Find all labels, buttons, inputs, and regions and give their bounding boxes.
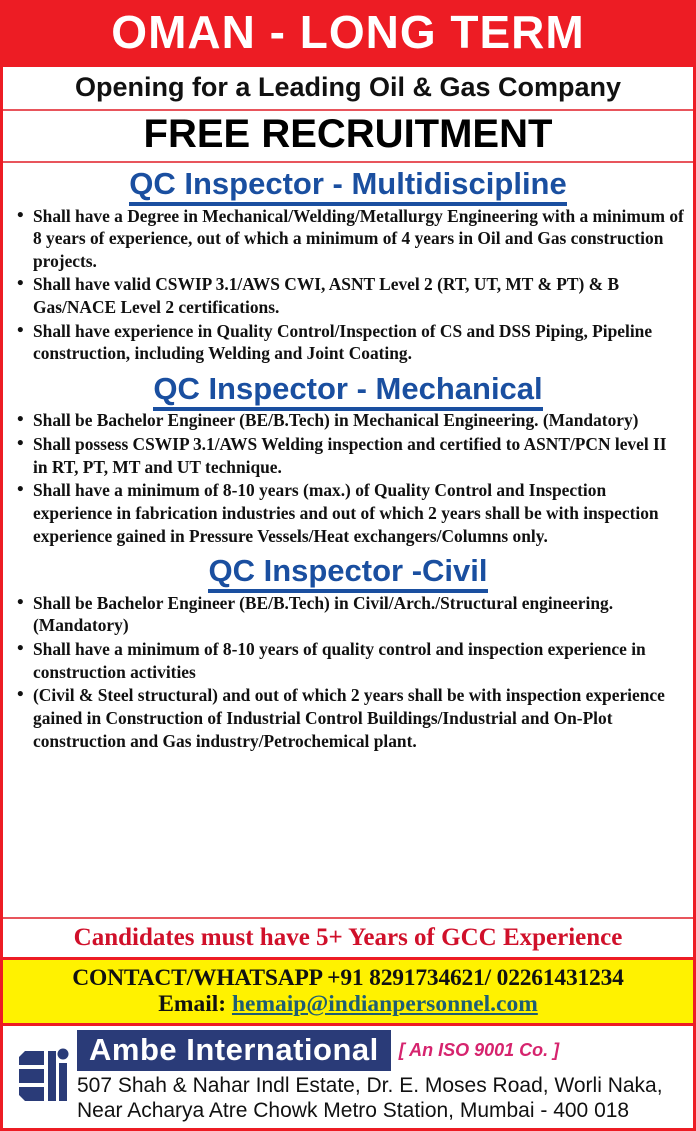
recruitment-flyer: OMAN - LONG TERM Opening for a Leading O… [0,0,696,1131]
company-footer: Ambe International [ An ISO 9001 Co. ] 5… [3,1026,693,1128]
requirements-list-multidiscipline: Shall have a Degree in Mechanical/Weldin… [11,205,685,366]
contact-banner: CONTACT/WHATSAPP +91 8291734621/ 0226143… [3,960,693,1024]
company-name: Ambe International [77,1030,391,1071]
job-listings: QC Inspector - Multidiscipline Shall hav… [3,163,693,917]
list-item: (Civil & Steel structural) and out of wh… [11,684,685,752]
job-title-text: QC Inspector - Mechanical [153,371,542,411]
requirements-list-civil: Shall be Bachelor Engineer (BE/B.Tech) i… [11,592,685,753]
list-item: Shall have a minimum of 8-10 years of qu… [11,638,685,683]
requirements-list-mechanical: Shall be Bachelor Engineer (BE/B.Tech) i… [11,409,685,548]
email-label: Email: [158,991,226,1017]
address-line-1: 507 Shah & Nahar Indl Estate, Dr. E. Mos… [77,1074,687,1099]
list-item: Shall have valid CSWIP 3.1/AWS CWI, ASNT… [11,273,685,318]
list-item: Shall have a minimum of 8-10 years (max.… [11,479,685,547]
email-link[interactable]: hemaip@indianpersonnel.com [232,991,538,1017]
list-item: Shall have experience in Quality Control… [11,320,685,365]
list-item: Shall be Bachelor Engineer (BE/B.Tech) i… [11,592,685,637]
gcc-experience-note: Candidates must have 5+ Years of GCC Exp… [3,919,693,957]
job-title-text: QC Inspector -Civil [208,553,487,593]
job-title-multidiscipline: QC Inspector - Multidiscipline [11,168,685,201]
footer-text-block: Ambe International [ An ISO 9001 Co. ] 5… [77,1030,687,1124]
list-item: Shall be Bachelor Engineer (BE/B.Tech) i… [11,409,685,432]
contact-phone-line[interactable]: CONTACT/WHATSAPP +91 8291734621/ 0226143… [3,965,693,991]
opening-subtitle: Opening for a Leading Oil & Gas Company [3,67,693,109]
iso-badge: [ An ISO 9001 Co. ] [399,1040,559,1061]
list-item: Shall possess CSWIP 3.1/AWS Welding insp… [11,433,685,478]
list-item: Shall have a Degree in Mechanical/Weldin… [11,205,685,273]
address-line-2: Near Acharya Atre Chowk Metro Station, M… [77,1099,687,1124]
job-title-mechanical: QC Inspector - Mechanical [11,373,685,406]
job-title-civil: QC Inspector -Civil [11,555,685,588]
ambe-ei-monogram-logo [11,1041,69,1113]
job-title-text: QC Inspector - Multidiscipline [129,166,566,206]
free-recruitment-title: FREE RECRUITMENT [3,111,693,161]
country-banner: OMAN - LONG TERM [3,3,693,64]
contact-email-line: Email: hemaip@indianpersonnel.com [3,991,693,1017]
brand-row: Ambe International [ An ISO 9001 Co. ] [77,1030,687,1071]
